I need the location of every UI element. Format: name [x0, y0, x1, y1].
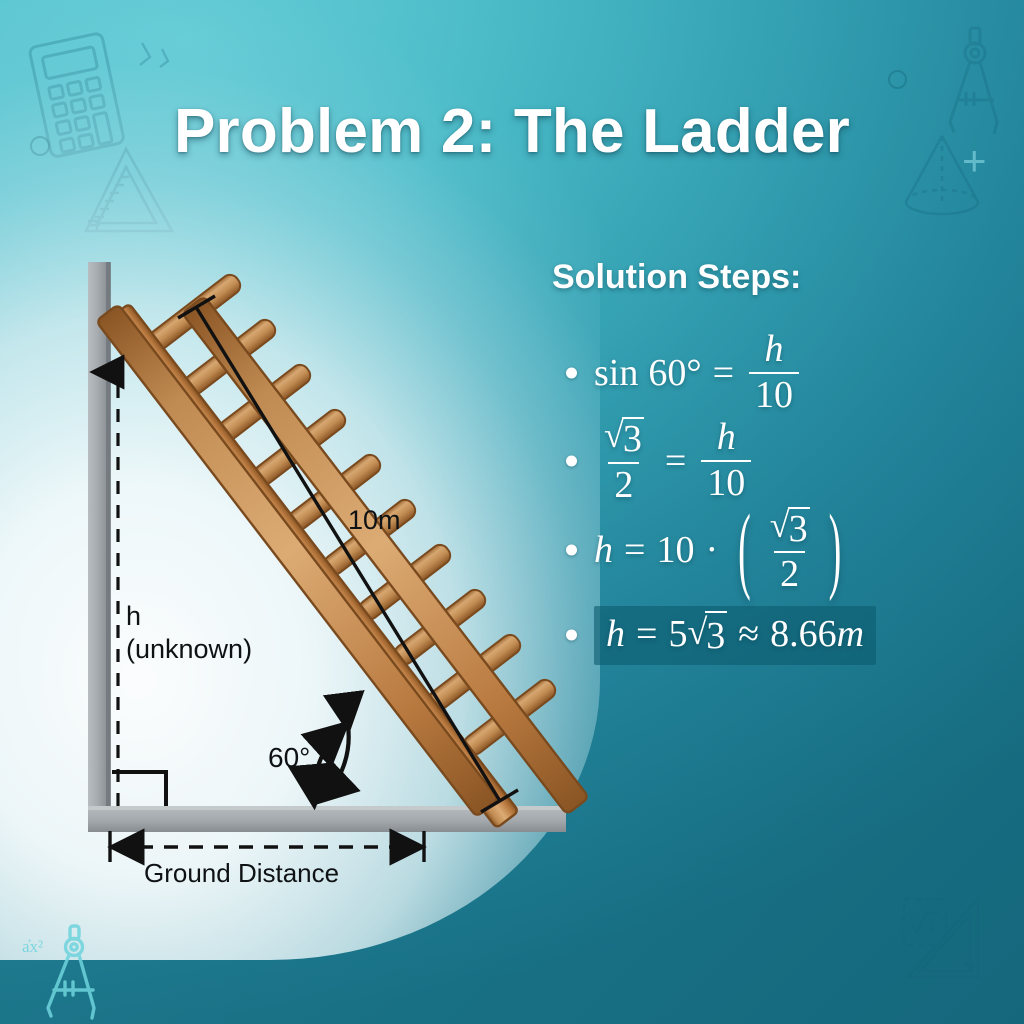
ladder-length-label: 10m [348, 505, 401, 536]
numerator: h [711, 418, 742, 460]
ladder-diagram: h (unknown) 10m 60° Ground Distance [0, 0, 620, 960]
ground-distance-label: Ground Distance [144, 858, 339, 889]
angle-value: 60° [648, 351, 701, 395]
square-root-icon: √ 3 [604, 417, 644, 460]
poster-canvas: + Problem 2: The Ladder [0, 0, 1024, 1024]
solution-step-4: h = 5 √ 3 ≈ 8.66 m [560, 603, 990, 667]
equals-sign: = [624, 528, 645, 572]
approx-sign: ≈ [738, 612, 759, 656]
answer-unit: m [837, 612, 864, 656]
ladder-icon [96, 271, 589, 828]
wall-icon [88, 262, 111, 818]
variable-h: h [606, 612, 625, 656]
solution-steps-list: sin 60° = h 10 √ 3 [560, 330, 990, 667]
bullet-icon [566, 545, 577, 556]
answer-value: 8.66 [770, 612, 837, 656]
equation-sine-ratio: sin 60° = h 10 [594, 330, 803, 416]
denominator: 2 [608, 462, 639, 506]
fraction-sqrt3-over-2: √ 3 2 [764, 506, 816, 596]
denominator: 2 [774, 551, 805, 595]
sine-function: sin [594, 351, 638, 395]
numerator: √ 3 [764, 506, 816, 552]
triangle-ruler-icon [900, 893, 1010, 1003]
fraction-h-over-10: h 10 [749, 330, 799, 416]
equation-final-answer: h = 5 √ 3 ≈ 8.66 m [606, 611, 864, 658]
compass-caption: a̓x² [22, 937, 43, 956]
bullet-icon [566, 630, 577, 641]
angle-label: 60° [268, 742, 310, 774]
radicand: 3 [622, 417, 644, 460]
equals-sign: = [713, 351, 734, 395]
compass-bottom-left-icon: a̓x² [18, 920, 138, 1024]
solution-step-1: sin 60° = h 10 [560, 330, 990, 416]
denominator: 10 [749, 372, 799, 416]
solution-step-3: h = 10 · ( √ 3 2 ) [560, 506, 990, 596]
square-root-icon: √ 3 [770, 507, 810, 550]
fraction-h-over-10: h 10 [701, 418, 751, 504]
solution-heading: Solution Steps: [552, 258, 952, 297]
solution-step-2: √ 3 2 = h 10 [560, 416, 990, 506]
radicand: 3 [788, 507, 810, 550]
fraction-sqrt3-over-2: √ 3 2 [598, 416, 650, 506]
equation-solve-for-h: h = 10 · ( √ 3 2 ) [594, 506, 850, 596]
equals-sign: = [665, 439, 686, 483]
equals-sign: = [636, 612, 657, 656]
bullet-icon [566, 367, 577, 378]
multiplication-dot: · [705, 528, 718, 572]
equation-substitute-value: √ 3 2 = h 10 [594, 416, 755, 506]
height-symbol: h [126, 600, 252, 633]
circle-icon [888, 70, 907, 89]
square-root-icon: √ 3 [687, 611, 727, 658]
right-paren: ) [829, 494, 842, 606]
numerator: h [759, 330, 790, 372]
height-label: h (unknown) [126, 600, 252, 666]
final-answer-highlight: h = 5 √ 3 ≈ 8.66 m [594, 606, 876, 665]
bullet-icon [566, 455, 577, 466]
right-angle-marker-icon [112, 772, 166, 806]
factor-10: 10 [656, 528, 694, 572]
height-note: (unknown) [126, 633, 252, 666]
variable-h: h [594, 528, 613, 572]
numerator: √ 3 [598, 416, 650, 462]
radicand: 3 [705, 611, 727, 658]
coefficient-5: 5 [668, 612, 687, 656]
left-paren: ( [738, 494, 751, 606]
